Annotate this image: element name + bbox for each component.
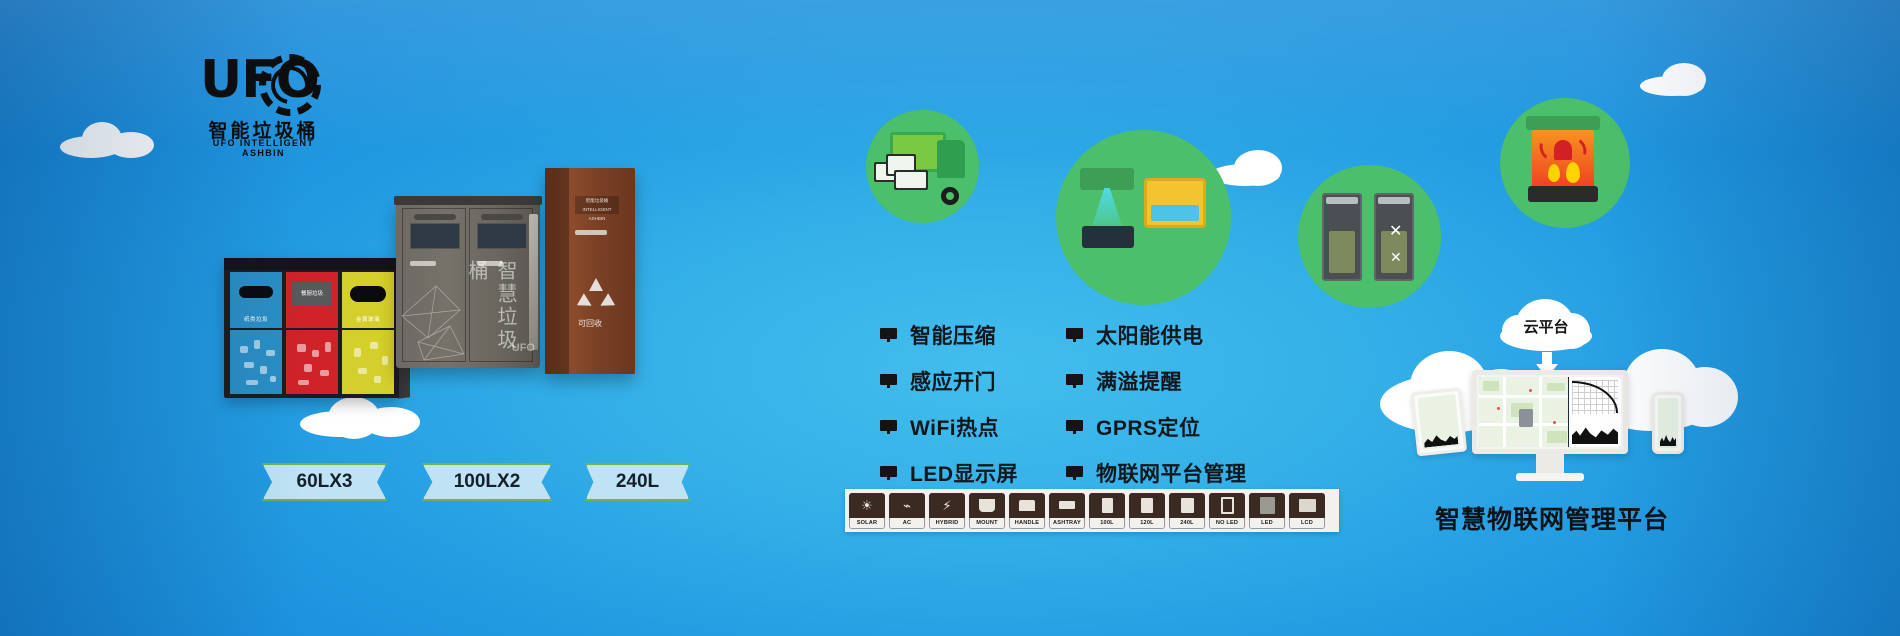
badge-label: HYBRID xyxy=(929,518,965,529)
bin-header-plate: 智能垃圾桶 INTELLIGENT ASHBIN xyxy=(575,196,619,214)
badge-label: 100L xyxy=(1089,518,1125,529)
monitor-icon xyxy=(894,170,928,190)
compartment-upper-panel: 金属玻璃 xyxy=(342,272,394,328)
badge-120l: 120L xyxy=(1129,493,1165,529)
truck-icon xyxy=(866,110,979,223)
bin-header-line1: 智能垃圾桶 xyxy=(575,196,619,205)
wall-mount-icon xyxy=(969,493,1005,518)
feature-circle-fill-level-sensor xyxy=(1056,130,1231,305)
badge-mount: MOUNT xyxy=(969,493,1005,529)
feature-column-left: 智能压缩 感应开门 WiFi热点 LED显示屏 xyxy=(880,320,1018,488)
feature-item: LED显示屏 xyxy=(880,458,1018,488)
compartment-lower-panel xyxy=(230,330,282,394)
badge-label: MOUNT xyxy=(969,518,1005,529)
monitor-bullet-icon xyxy=(880,374,897,388)
compartment-label: 餐厨垃圾 xyxy=(286,289,338,297)
door-label-strip xyxy=(414,214,456,220)
waste-slot xyxy=(239,286,273,298)
badge-label: HANDLE xyxy=(1009,518,1045,529)
feature-circle-fire-alarm xyxy=(1500,98,1630,228)
monitor-bullet-icon xyxy=(1066,328,1083,342)
feature-label: 智能压缩 xyxy=(910,320,996,350)
charts-panel xyxy=(1568,377,1621,447)
door-label-strip xyxy=(481,214,523,220)
monitor-screen xyxy=(1479,377,1621,447)
feature-label: 物联网平台管理 xyxy=(1096,458,1247,488)
waste-graphic xyxy=(292,336,332,388)
bin-compartment-paper: 纸类垃圾 xyxy=(230,272,282,396)
badge-ac: ⌁ AC xyxy=(889,493,925,529)
capacity-ribbon-60lx3: 60LX3 xyxy=(262,463,387,501)
badge-label: AC xyxy=(889,518,925,529)
compartment-upper-panel: 纸类垃圾 xyxy=(230,272,282,328)
bin-base xyxy=(1528,186,1598,202)
badge-lcd: LCD xyxy=(1289,493,1325,529)
sun-icon: ☀ xyxy=(849,493,885,518)
ufo-logo: UFO 智能垃圾桶 UFO INTELLIGENT ASHBIN xyxy=(196,52,331,152)
handle-icon xyxy=(1009,493,1045,518)
capacity-ribbon-100lx2: 100LX2 xyxy=(422,463,552,501)
hybrid-power-icon: ⚡ xyxy=(929,493,965,518)
monitor-bullet-icon xyxy=(1066,374,1083,388)
desktop-monitor xyxy=(1472,370,1628,454)
monitor-stand xyxy=(1536,454,1564,474)
door-display-screen xyxy=(410,223,460,249)
badge-no-led: NO LED xyxy=(1209,493,1245,529)
phone-device xyxy=(1652,392,1684,454)
cloud-platform-badge: 云平台 xyxy=(1500,297,1592,353)
recycle-label: 可回收 xyxy=(545,318,635,329)
compartment-lower-panel xyxy=(286,330,338,394)
badge-label: NO LED xyxy=(1209,518,1245,529)
monitor-bullet-icon xyxy=(1066,420,1083,434)
door-handle xyxy=(410,261,436,266)
compression-bin-right: ✕ ✕ xyxy=(1374,193,1414,281)
badge-ashtray: ASHTRAY xyxy=(1049,493,1085,529)
compartment-lower-panel xyxy=(342,330,394,394)
capacity-ribbon-240l: 240L xyxy=(585,463,690,501)
bin-side-light-strip xyxy=(529,214,538,350)
badge-label: LED xyxy=(1249,518,1285,529)
feature-label: 太阳能供电 xyxy=(1096,320,1204,350)
bin-compartment-metal-glass: 金属玻璃 xyxy=(342,272,394,396)
feature-label: 感应开门 xyxy=(910,366,996,396)
product-grey-double-bin: 智慧垃圾桶 UFO xyxy=(396,200,540,368)
bin-lid xyxy=(224,258,399,270)
map-panel xyxy=(1479,377,1568,447)
bin-240l-icon xyxy=(1169,493,1205,518)
monitor-bullet-icon xyxy=(880,466,897,480)
bin-shadow-panel xyxy=(545,168,569,374)
no-led-icon xyxy=(1209,493,1245,518)
area-chart xyxy=(1572,422,1618,444)
badge-100l: 100L xyxy=(1089,493,1125,529)
sensor-bins-icon xyxy=(1056,130,1231,305)
compression-bins-icon: ✕ ✕ xyxy=(1298,165,1441,308)
badge-label: 240L xyxy=(1169,518,1205,529)
feature-circle-smart-collection-truck xyxy=(866,110,979,223)
badge-led: LED xyxy=(1249,493,1285,529)
led-icon xyxy=(1249,493,1285,518)
feature-circle-waste-compression: ✕ ✕ xyxy=(1298,165,1441,308)
truck-wheel xyxy=(941,187,959,205)
badge-hybrid: ⚡ HYBRID xyxy=(929,493,965,529)
bin-handle xyxy=(575,230,607,235)
feature-item: 满溢提醒 xyxy=(1066,366,1247,396)
monitor-bullet-icon xyxy=(1066,466,1083,480)
sensor-bin-lid xyxy=(1080,168,1134,190)
product-brown-bin: 智能垃圾桶 INTELLIGENT ASHBIN 可回收 xyxy=(545,168,635,374)
feature-item: 物联网平台管理 xyxy=(1066,458,1247,488)
iot-dashboard-illustration xyxy=(1408,370,1690,488)
bin-header-line2: INTELLIGENT ASHBIN xyxy=(575,205,619,223)
monitor-bullet-icon xyxy=(880,420,897,434)
waste-graphic xyxy=(236,336,276,388)
recycle-icon xyxy=(579,278,613,312)
promo-banner: UFO 智能垃圾桶 UFO INTELLIGENT ASHBIN 纸类垃圾 xyxy=(0,0,1900,636)
platform-caption: 智慧物联网管理平台 xyxy=(1392,500,1712,536)
waste-graphic xyxy=(348,336,388,388)
badge-label: ASHTRAY xyxy=(1049,518,1085,529)
badge-solar: ☀ SOLAR xyxy=(849,493,885,529)
truck-cab xyxy=(937,140,965,178)
bin-120l-icon xyxy=(1129,493,1165,518)
badge-handle: HANDLE xyxy=(1009,493,1045,529)
tablet-device xyxy=(1411,388,1467,457)
bin-compartment-kitchen: 餐厨垃圾 xyxy=(286,272,338,396)
badge-240l: 240L xyxy=(1169,493,1205,529)
lcd-icon xyxy=(1289,493,1325,518)
monitor-bullet-icon xyxy=(880,328,897,342)
compression-bin-left xyxy=(1322,193,1362,281)
phone-map-screen xyxy=(1658,398,1678,448)
badge-label: SOLAR xyxy=(849,518,885,529)
feature-label: 满溢提醒 xyxy=(1096,366,1182,396)
feature-label: GPRS定位 xyxy=(1096,412,1201,442)
feature-list: 智能压缩 感应开门 WiFi热点 LED显示屏 太阳能供电 满溢提醒 xyxy=(880,320,1320,488)
feature-item: 感应开门 xyxy=(880,366,1018,396)
spec-badge-strip: ☀ SOLAR ⌁ AC ⚡ HYBRID MOUNT HANDLE ASHTR… xyxy=(845,489,1339,532)
compartment-upper-panel: 餐厨垃圾 xyxy=(286,272,338,328)
fire-alarm-icon xyxy=(1500,98,1630,228)
feature-item: GPRS定位 xyxy=(1066,412,1247,442)
feature-column-right: 太阳能供电 满溢提醒 GPRS定位 物联网平台管理 xyxy=(1066,320,1247,488)
badge-label: 120L xyxy=(1129,518,1165,529)
waste-slot xyxy=(350,286,386,302)
tablet-map-screen xyxy=(1417,394,1460,450)
feature-label: WiFi热点 xyxy=(910,412,999,442)
badge-label: LCD xyxy=(1289,518,1325,529)
bin-100l-icon xyxy=(1089,493,1125,518)
cloud-platform-label: 云平台 xyxy=(1500,316,1592,337)
bin-top-rail xyxy=(394,196,542,205)
logo-english-tagline: UFO INTELLIGENT ASHBIN xyxy=(196,138,331,158)
overflow-bin xyxy=(1144,178,1206,228)
monitor-base xyxy=(1516,473,1584,481)
feature-item: 智能压缩 xyxy=(880,320,1018,350)
feature-label: LED显示屏 xyxy=(910,458,1018,488)
ashtray-icon xyxy=(1049,493,1085,518)
feature-item: WiFi热点 xyxy=(880,412,1018,442)
bin-brand-mark: UFO xyxy=(512,342,535,354)
compartment-label: 金属玻璃 xyxy=(342,315,394,323)
sensor-bin-base xyxy=(1082,226,1134,248)
compartment-label: 纸类垃圾 xyxy=(230,315,282,323)
bin-lid xyxy=(1526,116,1600,130)
feature-item: 太阳能供电 xyxy=(1066,320,1247,350)
product-three-compartment-bin: 纸类垃圾 餐厨垃圾 xyxy=(224,258,399,398)
door-display-screen xyxy=(477,223,527,249)
plug-icon: ⌁ xyxy=(889,493,925,518)
